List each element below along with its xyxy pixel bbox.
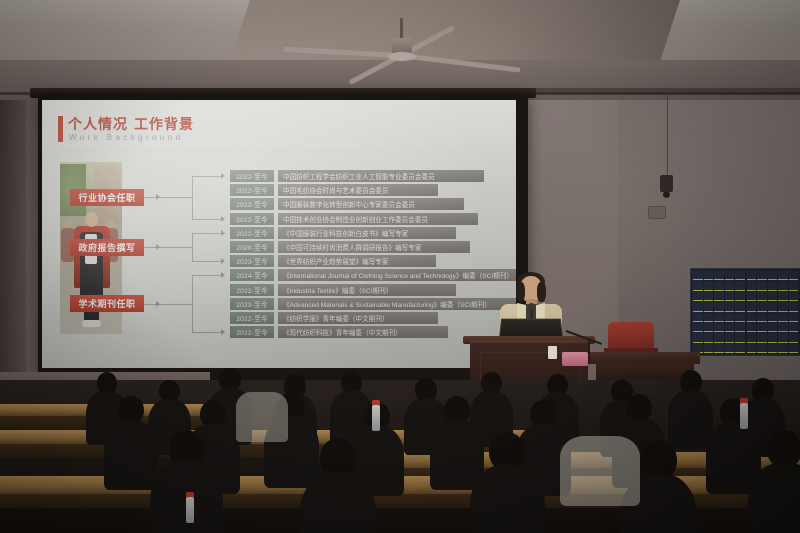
audience-body [748,463,800,533]
work-row-description: 中国毛纺协会时尚与艺术委员会委员 [278,184,438,196]
work-row-description: 中国服装数字化转型创新中心专家委员会委员 [278,198,464,210]
key-slot [778,271,788,280]
audience-light-shirt [560,436,640,506]
slide-title-part2: 工作背景 [134,116,194,132]
key-slot [714,333,724,342]
connector-branch-arrow [221,173,225,179]
work-row-date: 2022-至今 [230,326,274,338]
key-slot [735,292,745,301]
category-label-1: 政府报告撰写 [70,239,144,256]
key-slot [693,323,703,332]
key-slot [725,333,735,342]
key-slot [747,292,757,301]
work-row-description: 中国纺织工程学会纺织工业人工智能专业委员会委员 [278,170,484,182]
work-row-date: 2023-至今 [230,298,274,310]
key-slot [704,281,714,290]
connector-branch-arrow [221,216,225,222]
key-slot [778,333,788,342]
key-slot [757,323,767,332]
work-row: 2022-至今中国纺织工程学会纺织工业人工智能专业委员会委员 [230,170,484,182]
key-slot [789,313,799,322]
key-slot [757,271,767,280]
category-label-0: 行业协会任职 [70,189,144,206]
key-slot [735,313,745,322]
bottle-body [740,403,748,429]
key-slot [725,302,735,311]
key-slot [725,344,735,353]
key-slot [789,333,799,342]
key-slot [747,271,757,280]
work-row: 2023-至今《Advanced Materials & Sustainable… [230,298,516,310]
lecture-hall-scene: 个人情况工作背景 Work Background 2 [0,0,800,533]
key-slot [714,302,724,311]
work-row: 2022-至今《Industria Textile》编委（SCI期刊） [230,284,456,296]
key-slot [725,313,735,322]
work-row-description: 《中国可持续时尚消费人群调研报告》编写专家 [278,241,470,253]
key-slot [778,323,788,332]
slide-title: 个人情况工作背景 [68,114,194,134]
key-slot [735,281,745,290]
audience-member [748,430,800,533]
work-row-date: 2022-至今 [230,184,274,196]
work-row: 2023-至今《世界纺织产业趋势展望》编写专家 [230,255,436,267]
key-slot [768,344,778,353]
audience-member [470,432,545,533]
bottle-body [372,405,380,431]
work-row-description: 《纺织学报》青年编委（中文期刊） [278,312,438,324]
key-slot [768,302,778,311]
key-slot [693,292,703,301]
key-slot [714,292,724,301]
key-slot [693,271,703,280]
key-slot [768,281,778,290]
bottle-body [186,497,194,523]
hanging-device-knob [663,191,670,198]
hanging-device [660,175,673,192]
key-slot [693,281,703,290]
key-slot [704,302,714,311]
key-slot [789,292,799,301]
connector-branch [192,219,222,220]
connector-branch [192,261,222,262]
key-slot [704,344,714,353]
key-slot [789,281,799,290]
key-slot [735,344,745,353]
key-slot [725,323,735,332]
connector-branch [192,275,222,276]
work-row: 2024-至今《International Journal of Clothin… [230,269,516,281]
key-slot [768,271,778,280]
key-slot [693,302,703,311]
key-slot [768,333,778,342]
key-slot [714,323,724,332]
connector-branch [192,233,222,234]
key-slot [778,344,788,353]
work-row-date: 2022-至今 [230,170,274,182]
key-slot [789,271,799,280]
title-divider [58,150,498,151]
work-row-date: 2022-至今 [230,284,274,296]
key-slot [704,271,714,280]
connector-branch [192,332,222,333]
connector-link [160,247,193,248]
hanging-wire [667,95,668,177]
key-slot [757,292,767,301]
key-slot [747,333,757,342]
key-slot [714,271,724,280]
work-row: 2022-至今《中国服装行业科技创新白皮书》编写专家 [230,227,456,239]
title-accent-bar [58,116,63,142]
key-slot [735,302,745,311]
key-slot [778,313,788,322]
work-row-date: 2024-至今 [230,269,274,281]
numbered-key-board [690,268,800,356]
key-slot [704,333,714,342]
audience-light-shirt [236,392,288,442]
audience-body [470,465,545,533]
work-row-date: 2022-至今 [230,227,274,239]
left-dark-panel [0,96,26,396]
key-slot [735,333,745,342]
presentation-slide: 个人情况工作背景 Work Background 2 [42,100,516,368]
work-row-date: 2020-至今 [230,241,274,253]
work-row-description: 《International Journal of Clothing Scien… [278,269,516,281]
connector-link [160,197,193,198]
work-row: 2022-至今《现代纺织科技》青年编委（中文期刊） [230,326,448,338]
key-slot [778,281,788,290]
key-slot [714,281,724,290]
key-slot [747,323,757,332]
key-slot [693,313,703,322]
key-slot [757,281,767,290]
key-slot [735,271,745,280]
key-slot [714,344,724,353]
category-label-2: 学术期刊任职 [70,295,144,312]
key-slot [704,323,714,332]
connector-branch [192,176,222,177]
connector-branch-arrow [221,329,225,335]
key-slot [757,344,767,353]
key-slot [778,292,788,301]
pink-bag [562,352,588,366]
work-row-date: 2022-至今 [230,198,274,210]
connector-link [160,304,193,305]
key-slot [704,292,714,301]
key-slot [747,344,757,353]
connector-branch-arrow [221,272,225,278]
slide-title-part1: 个人情况 [68,116,128,132]
work-row-description: 《世界纺织产业趋势展望》编写专家 [278,255,436,267]
audience-member [300,438,376,533]
key-slot [789,302,799,311]
connector-branch-arrow [221,230,225,236]
audience-body [300,472,376,533]
work-row: 2020-至今《中国可持续时尚消费人群调研报告》编写专家 [230,241,470,253]
paper-cup [548,346,557,359]
key-slot [768,292,778,301]
key-slot [714,313,724,322]
key-slot [789,344,799,353]
key-slot [693,333,703,342]
work-row-description: 中国技术创业协会制造业创新创业工作委员会委员 [278,213,478,225]
work-row-date: 2022-至今 [230,213,274,225]
key-slot [725,271,735,280]
work-row-description: 《Advanced Materials & Sustainable Manufa… [278,298,516,310]
key-slot [757,313,767,322]
key-slot [735,323,745,332]
key-slot [768,313,778,322]
connector-branch-arrow [221,258,225,264]
work-row-description: 《Industria Textile》编委（SCI期刊） [278,284,456,296]
work-row-date: 2022-至今 [230,312,274,324]
key-slot [778,302,788,311]
key-slot [747,313,757,322]
projection-screen: 个人情况工作背景 Work Background 2 [42,100,516,368]
work-row-description: 《现代纺织科技》青年编委（中文期刊） [278,326,448,338]
key-slot [757,302,767,311]
work-row: 2022-至今中国服装数字化转型创新中心专家委员会委员 [230,198,464,210]
key-slot [725,281,735,290]
key-slot [704,313,714,322]
work-row: 2022-至今中国技术创业协会制造业创新创业工作委员会委员 [230,213,478,225]
work-row: 2022-至今中国毛纺协会时尚与艺术委员会委员 [230,184,438,196]
work-row-description: 《中国服装行业科技创新白皮书》编写专家 [278,227,456,239]
key-slot [725,292,735,301]
slide-subtitle: Work Background [69,133,183,142]
key-slot [757,333,767,342]
key-slot [768,323,778,332]
key-slot [747,302,757,311]
work-row: 2022-至今《纺织学报》青年编委（中文期刊） [230,312,438,324]
work-row-date: 2023-至今 [230,255,274,267]
key-slot [747,281,757,290]
key-slot [789,323,799,332]
wall-vent [648,206,666,219]
